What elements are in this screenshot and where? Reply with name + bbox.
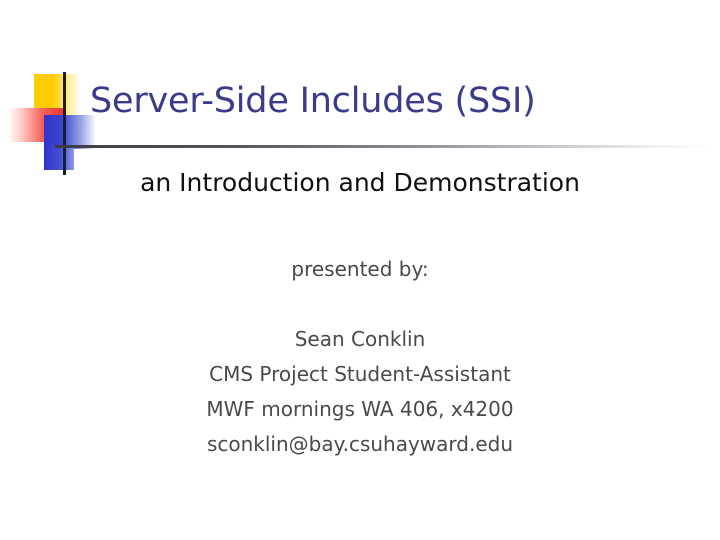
spacer (0, 287, 720, 322)
presented-by-label: presented by: (0, 252, 720, 287)
slide-title: Server-Side Includes (SSI) (90, 79, 650, 123)
presenter-role: CMS Project Student-Assistant (0, 357, 720, 392)
presenter-office-hours: MWF mornings WA 406, x4200 (0, 392, 720, 427)
blue-rectangle-icon (44, 115, 96, 149)
presenter-email: sconklin@bay.csuhayward.edu (0, 427, 720, 462)
presenter-info-block: presented by: Sean Conklin CMS Project S… (0, 252, 720, 462)
presentation-slide: Server-Side Includes (SSI) an Introducti… (0, 0, 720, 540)
vertical-rule-icon (63, 72, 66, 175)
presenter-name: Sean Conklin (0, 322, 720, 357)
slide-subtitle: an Introduction and Demonstration (0, 167, 720, 199)
title-divider (55, 145, 712, 148)
